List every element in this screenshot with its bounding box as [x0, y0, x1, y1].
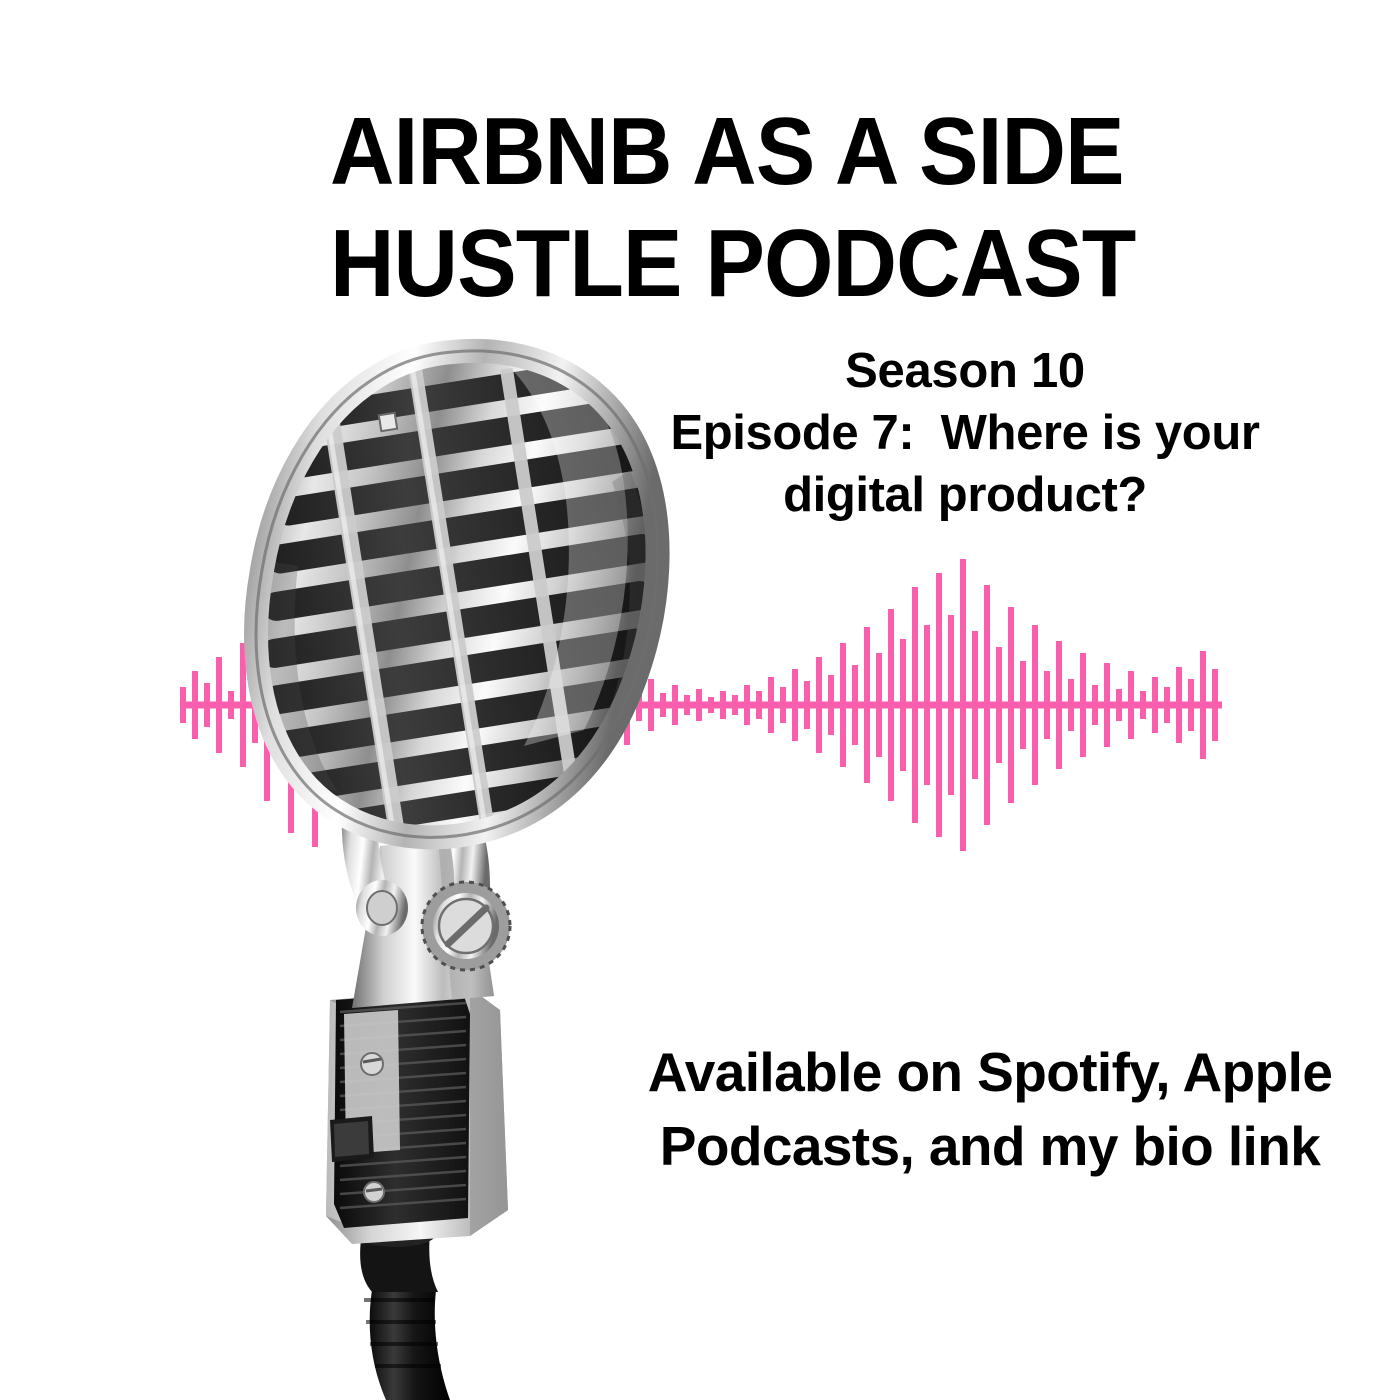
waveform-bar [1104, 663, 1110, 747]
waveform-bar [288, 577, 294, 833]
waveform-bar [552, 687, 558, 723]
waveform-bar [732, 695, 738, 715]
waveform-bar [1008, 607, 1014, 803]
waveform-bar [684, 695, 690, 715]
waveform-bar [528, 691, 534, 719]
availability-note: Available on Spotify, Apple Podcasts, an… [620, 1035, 1360, 1183]
waveform-bar [372, 679, 378, 731]
waveform-bar [900, 639, 906, 771]
waveform-bar [936, 573, 942, 837]
waveform-bar [324, 645, 330, 765]
microphone-neck [352, 836, 494, 1008]
waveform-bar [1116, 689, 1122, 721]
waveform-bar [924, 625, 930, 785]
podcast-episode-graphic: AIRBNB AS A SIDE HUSTLE PODCAST Season 1… [0, 0, 1400, 1400]
waveform-bar [360, 619, 366, 791]
waveform-bar [984, 585, 990, 825]
waveform-bar [888, 609, 894, 801]
waveform-bar [588, 691, 594, 719]
waveform-bar [1068, 679, 1074, 731]
waveform-bar [1092, 685, 1098, 725]
waveform-bar [1212, 669, 1218, 741]
waveform-bar [864, 627, 870, 783]
waveform-bar [816, 657, 822, 753]
waveform-bar [1200, 651, 1206, 759]
waveform-bar [348, 665, 354, 745]
availability-line-2: Podcasts, and my bio link [620, 1109, 1360, 1183]
season-label: Season 10 [595, 340, 1335, 402]
waveform-bar [432, 675, 438, 735]
waveform-bar [408, 635, 414, 775]
title-line-1: AIRBNB AS A SIDE [330, 96, 1037, 208]
waveform-bar [720, 691, 726, 719]
waveform-bar [384, 647, 390, 763]
episode-title: Episode 7: Where is your digital product… [595, 402, 1335, 526]
waveform-bar [1044, 671, 1050, 739]
waveform-bar [540, 695, 546, 715]
waveform-bar [504, 693, 510, 717]
waveform-bar [948, 615, 954, 795]
waveform-bar [1152, 677, 1158, 733]
podcast-title: AIRBNB AS A SIDE HUSTLE PODCAST [330, 96, 1090, 320]
waveform-bar [600, 675, 606, 735]
waveform-bar [252, 667, 258, 743]
waveform-bar [960, 559, 966, 851]
waveform-bar [1188, 679, 1194, 731]
waveform-baseline [180, 702, 1222, 709]
waveform-bar [780, 687, 786, 723]
waveform-bar [804, 681, 810, 729]
waveform-bar [192, 671, 198, 739]
waveform-bar [1128, 671, 1134, 739]
waveform-bar [228, 691, 234, 719]
waveform-bar [996, 647, 1002, 763]
waveform-bar [852, 665, 858, 745]
waveform-bar [264, 609, 270, 801]
waveform-bar [636, 689, 642, 721]
waveform-bar [768, 677, 774, 733]
waveform-bar [312, 563, 318, 847]
microphone-cable [356, 1221, 450, 1400]
waveform-bar [576, 681, 582, 729]
availability-line-1: Available on Spotify, Apple [620, 1035, 1360, 1109]
waveform-bar [336, 597, 342, 813]
waveform-bar [516, 697, 522, 713]
microphone-yoke [342, 790, 510, 970]
microphone-base [326, 988, 508, 1244]
waveform-bar [396, 689, 402, 721]
waveform-bar [216, 657, 222, 753]
waveform-bar [300, 631, 306, 779]
waveform-bar [756, 691, 762, 719]
waveform-bar [840, 643, 846, 767]
waveform-bar [240, 643, 246, 767]
waveform-bar [444, 695, 450, 715]
waveform-bar [1032, 625, 1038, 785]
microphone-switch-panel [330, 990, 470, 1228]
waveform-bar [912, 587, 918, 823]
waveform-bar [708, 697, 714, 713]
waveform-bar [744, 685, 750, 725]
waveform-bar [480, 689, 486, 721]
waveform-bar [828, 675, 834, 735]
waveform-bar [696, 689, 702, 721]
title-line-2: HUSTLE PODCAST [330, 208, 1037, 320]
waveform-bar [792, 669, 798, 741]
waveform-bar [672, 685, 678, 725]
waveform-bar [648, 679, 654, 731]
waveform-bar [456, 683, 462, 727]
waveform-bar [1080, 653, 1086, 757]
waveform-bar [660, 693, 666, 717]
waveform-bar [204, 683, 210, 727]
waveform-bar [276, 649, 282, 761]
waveform-bar [1140, 691, 1146, 719]
waveform-bar [876, 653, 882, 757]
waveform-bar [1056, 641, 1062, 769]
waveform-bar [612, 687, 618, 723]
waveform-bar [564, 693, 570, 717]
waveform-bar [1020, 661, 1026, 749]
waveform-bar [420, 693, 426, 717]
waveform-bar [468, 697, 474, 713]
waveform-bar [180, 687, 186, 723]
waveform-bar [1164, 687, 1170, 723]
episode-info: Season 10 Episode 7: Where is your digit… [595, 340, 1335, 526]
waveform-bar [1176, 667, 1182, 743]
waveform-bar [492, 699, 498, 711]
waveform-bar [624, 665, 630, 745]
waveform-bar [972, 631, 978, 779]
